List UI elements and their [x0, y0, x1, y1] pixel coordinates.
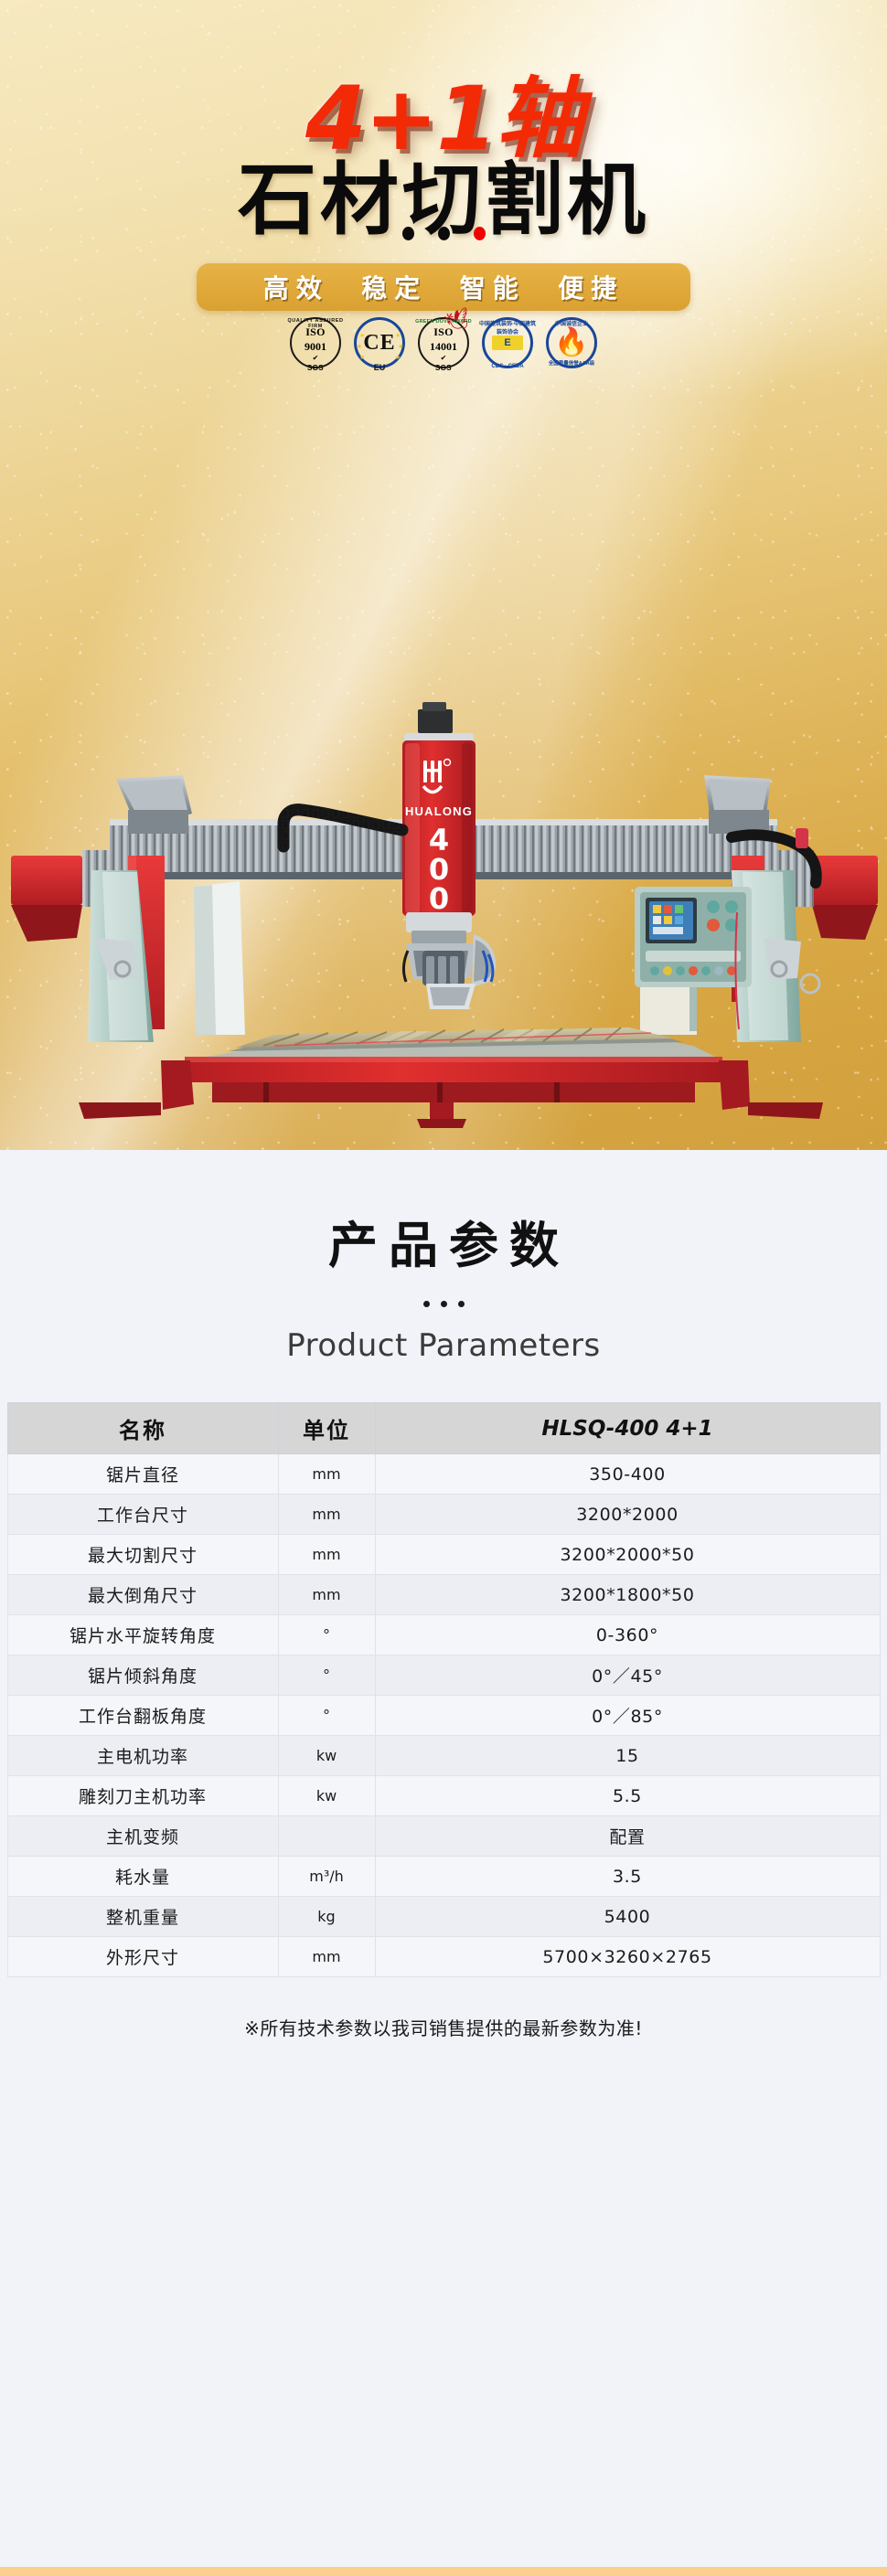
- spec-cell-unit: kw: [278, 1776, 375, 1816]
- spec-cell-value: 3200*1800*50: [375, 1575, 880, 1615]
- hero-dot-2: [438, 227, 450, 240]
- tagline-pill: 高效 稳定 智能 便捷: [197, 263, 690, 311]
- spec-table-body: 锯片直径mm350-400工作台尺寸mm3200*2000最大切割尺寸mm320…: [7, 1454, 880, 1977]
- spec-cell-unit: °: [278, 1696, 375, 1736]
- flame-award-badge: 中国诚信企业 🔥 全国质量信誉AAA级: [543, 314, 600, 371]
- spec-cell-value: 5.5: [375, 1776, 880, 1816]
- spec-row: 雕刻刀主机功率kw5.5: [7, 1776, 880, 1816]
- spec-cell-unit: kw: [278, 1736, 375, 1776]
- spec-row: 锯片直径mm350-400: [7, 1454, 880, 1495]
- spec-cell-unit: mm: [278, 1454, 375, 1495]
- spec-cell-unit: kg: [278, 1897, 375, 1937]
- iso-14001-line2: 14001: [430, 340, 457, 353]
- params-title: 产品参数: [0, 1150, 887, 1277]
- machine-illustration: HUALONG 4 0 0: [0, 676, 887, 1134]
- spec-header-unit: 单位: [278, 1403, 375, 1454]
- spec-table-head: 名称 单位 HLSQ-400 4+1: [7, 1403, 880, 1454]
- iso-14001-sgs-badge: GREEN DOVE AWARD 🕊 ISO 14001 ✔ SGS: [415, 314, 472, 371]
- spec-cell-name: 最大倒角尺寸: [7, 1575, 278, 1615]
- params-subtitle: Product Parameters: [0, 1327, 887, 1364]
- spec-table: 名称 单位 HLSQ-400 4+1 锯片直径mm350-400工作台尺寸mm3…: [7, 1402, 881, 1977]
- spec-header-model: HLSQ-400 4+1: [375, 1403, 880, 1454]
- flame-arc-text: 中国诚信企业: [543, 319, 600, 327]
- spec-cell-value: 0-360°: [375, 1615, 880, 1655]
- ceda-label: CBC · CEDA: [479, 364, 536, 369]
- spec-cell-unit: mm: [278, 1535, 375, 1575]
- spec-cell-value: 5400: [375, 1897, 880, 1937]
- spec-cell-name: 雕刻刀主机功率: [7, 1776, 278, 1816]
- params-dot-3: [458, 1301, 465, 1307]
- spec-cell-name: 锯片水平旋转角度: [7, 1615, 278, 1655]
- spec-cell-name: 最大切割尺寸: [7, 1535, 278, 1575]
- iso-9001-line2: 9001: [305, 340, 326, 353]
- spec-row: 主电机功率kw15: [7, 1736, 880, 1776]
- cbc-arc-text: 中国建筑装饰·中国建筑装饰协会: [479, 319, 536, 335]
- iso-9001-line1: ISO: [305, 325, 326, 338]
- svg-text:0: 0: [429, 881, 449, 916]
- spec-row: 外形尺寸mm5700×3260×2765: [7, 1937, 880, 1977]
- iso-9001-sgs-badge: QUALITY ASSURED FIRM ISO 9001 ✔ SGS: [287, 314, 344, 371]
- spec-cell-unit: mm: [278, 1575, 375, 1615]
- eu-label: EU: [351, 363, 408, 372]
- spec-cell-unit: mm: [278, 1495, 375, 1535]
- params-dot-2: [441, 1301, 447, 1307]
- spec-row: 最大切割尺寸mm3200*2000*50: [7, 1535, 880, 1575]
- check-icon: ✔: [305, 355, 326, 362]
- spec-cell-value: 3200*2000*50: [375, 1535, 880, 1575]
- spec-cell-name: 外形尺寸: [7, 1937, 278, 1977]
- spec-cell-value: 5700×3260×2765: [375, 1937, 880, 1977]
- spec-cell-name: 主机变频: [7, 1816, 278, 1857]
- cbc-ceda-badge: 中国建筑装饰·中国建筑装饰协会 E CBC · CEDA: [479, 314, 536, 371]
- spec-cell-value: 3.5: [375, 1857, 880, 1897]
- spec-cell-unit: m³/h: [278, 1857, 375, 1897]
- sgs-label: SGS: [287, 364, 344, 372]
- ceda-emblem: E: [492, 335, 523, 350]
- spec-cell-unit: mm: [278, 1937, 375, 1977]
- ce-eu-badge: ★ ★ ★ ★ ★ ★ CE EU: [351, 314, 408, 371]
- spec-header-row: 名称 单位 HLSQ-400 4+1: [7, 1403, 880, 1454]
- spec-row: 最大倒角尺寸mm3200*1800*50: [7, 1575, 880, 1615]
- spec-row: 主机变频配置: [7, 1816, 880, 1857]
- spec-cell-unit: [278, 1816, 375, 1857]
- spec-cell-value: 350-400: [375, 1454, 880, 1495]
- machine-brand-text: HUALONG: [405, 804, 473, 818]
- spec-cell-unit: °: [278, 1655, 375, 1696]
- spec-cell-unit: °: [278, 1615, 375, 1655]
- flame-icon: 🔥: [554, 329, 588, 357]
- spec-row: 整机重量kg5400: [7, 1897, 880, 1937]
- product-parameters-section: 产品参数 Product Parameters 名称 单位 HLSQ-400 4…: [0, 1150, 887, 2040]
- spec-header-name: 名称: [7, 1403, 278, 1454]
- certification-badge-row: QUALITY ASSURED FIRM ISO 9001 ✔ SGS ★ ★ …: [0, 314, 887, 371]
- spec-row: 耗水量m³/h3.5: [7, 1857, 880, 1897]
- hero-banner: 4+1轴 石材切割机 高效 稳定 智能 便捷 QUALITY ASSURED F…: [0, 0, 887, 1150]
- bottom-accent-bar: [0, 2567, 887, 2576]
- spec-row: 工作台翻板角度°0°／85°: [7, 1696, 880, 1736]
- hero-dot-group: [0, 227, 887, 240]
- spec-cell-value: 15: [375, 1736, 880, 1776]
- spec-cell-name: 锯片倾斜角度: [7, 1655, 278, 1696]
- spec-cell-name: 整机重量: [7, 1897, 278, 1937]
- params-dot-group: [0, 1301, 887, 1307]
- spec-disclaimer-note: ※所有技术参数以我司销售提供的最新参数为准!: [0, 2014, 887, 2040]
- params-dot-1: [423, 1301, 430, 1307]
- tagline-text: 高效 稳定 智能 便捷: [263, 269, 625, 305]
- check-icon: ✔: [430, 355, 457, 362]
- spec-cell-name: 主电机功率: [7, 1736, 278, 1776]
- spec-cell-value: 配置: [375, 1816, 880, 1857]
- hero-dot-3-accent: [474, 227, 486, 240]
- spec-cell-name: 耗水量: [7, 1857, 278, 1897]
- iso-9001-label: ISO 9001 ✔: [305, 325, 326, 362]
- spec-cell-value: 0°／45°: [375, 1655, 880, 1696]
- product-detail-page: 4+1轴 石材切割机 高效 稳定 智能 便捷 QUALITY ASSURED F…: [0, 0, 887, 2576]
- ce-mark-label: CE: [363, 331, 395, 356]
- spec-cell-value: 3200*2000: [375, 1495, 880, 1535]
- spec-row: 工作台尺寸mm3200*2000: [7, 1495, 880, 1535]
- flame-footer-label: 全国质量信誉AAA级: [543, 359, 600, 367]
- hero-dot-1: [402, 227, 414, 240]
- spec-row: 锯片水平旋转角度°0-360°: [7, 1615, 880, 1655]
- spec-cell-value: 0°／85°: [375, 1696, 880, 1736]
- spec-cell-name: 工作台翻板角度: [7, 1696, 278, 1736]
- spec-cell-name: 锯片直径: [7, 1454, 278, 1495]
- spec-cell-name: 工作台尺寸: [7, 1495, 278, 1535]
- sgs-label: SGS: [415, 364, 472, 372]
- spec-row: 锯片倾斜角度°0°／45°: [7, 1655, 880, 1696]
